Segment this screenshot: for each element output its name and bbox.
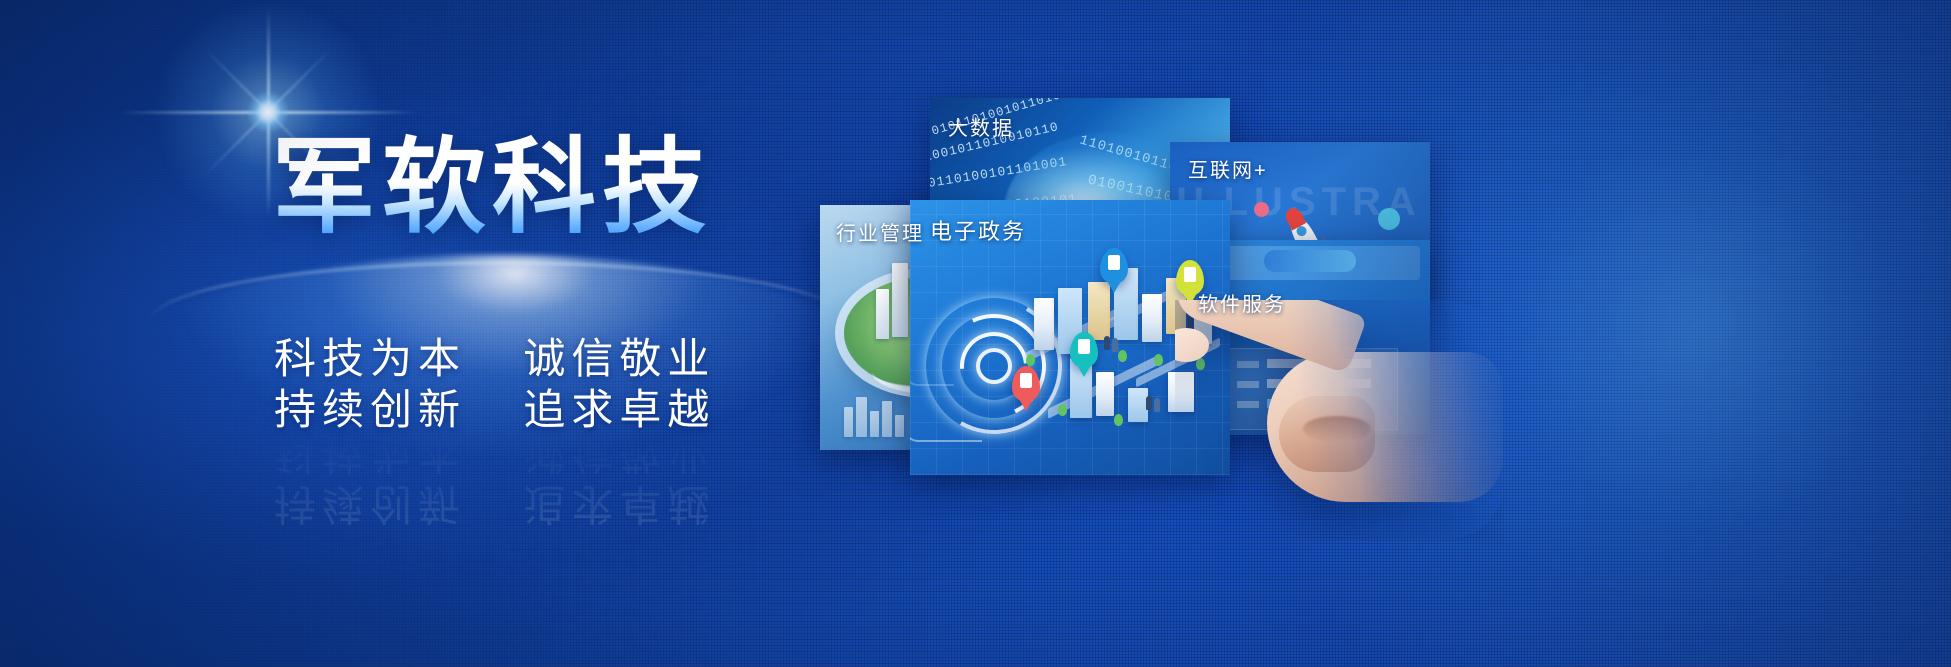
slogan-line-1: 科技为本 诚信敬业 [274, 333, 715, 384]
dot-accent-icon [1378, 208, 1400, 230]
map-pin-icon-blue [1100, 248, 1128, 284]
card-e-government-label: 电子政务 [930, 214, 1026, 246]
slogan-2b: 追求卓越 [523, 386, 715, 433]
slogan-line-2: 持续创新 追求卓越 [274, 384, 715, 435]
map-pin-icon-red [1012, 366, 1040, 402]
card-software-service-label: 软件服务 [1198, 288, 1286, 317]
brand-title-block: 军软科技 [272, 133, 712, 243]
slogan-2a: 持续创新 [274, 386, 466, 433]
slogan-reflection-c: 科技为本 [274, 429, 466, 476]
banner-hero: 军软科技 科技为本 诚信敬业 持续创新 追求卓越 持续创新 追求卓越 科技为本 … [0, 0, 1951, 667]
slogan-block: 科技为本 诚信敬业 持续创新 追求卓越 [274, 333, 715, 435]
card-internet-plus-label: 互联网+ [1188, 154, 1268, 183]
slogan-reflection-a: 持续创新 [274, 480, 466, 527]
dot-accent-icon-2 [1254, 202, 1269, 217]
map-pin-icon-teal [1070, 332, 1098, 368]
page-title: 军软科技 [272, 133, 712, 243]
slogan-reflection: 持续创新 追求卓越 科技为本 诚信敬业 [274, 427, 715, 529]
card-industry-label: 行业管理 [836, 217, 924, 246]
pointing-hand-icon [1175, 300, 1505, 540]
browser-pill-graphic [1264, 250, 1356, 272]
card-big-data-label: 大数据 [948, 112, 1014, 141]
slogan-1b: 诚信敬业 [523, 335, 715, 382]
slogan-1a: 科技为本 [274, 335, 466, 382]
slogan-reflection-d: 诚信敬业 [523, 429, 715, 476]
slogan-reflection-b: 追求卓越 [523, 480, 715, 527]
